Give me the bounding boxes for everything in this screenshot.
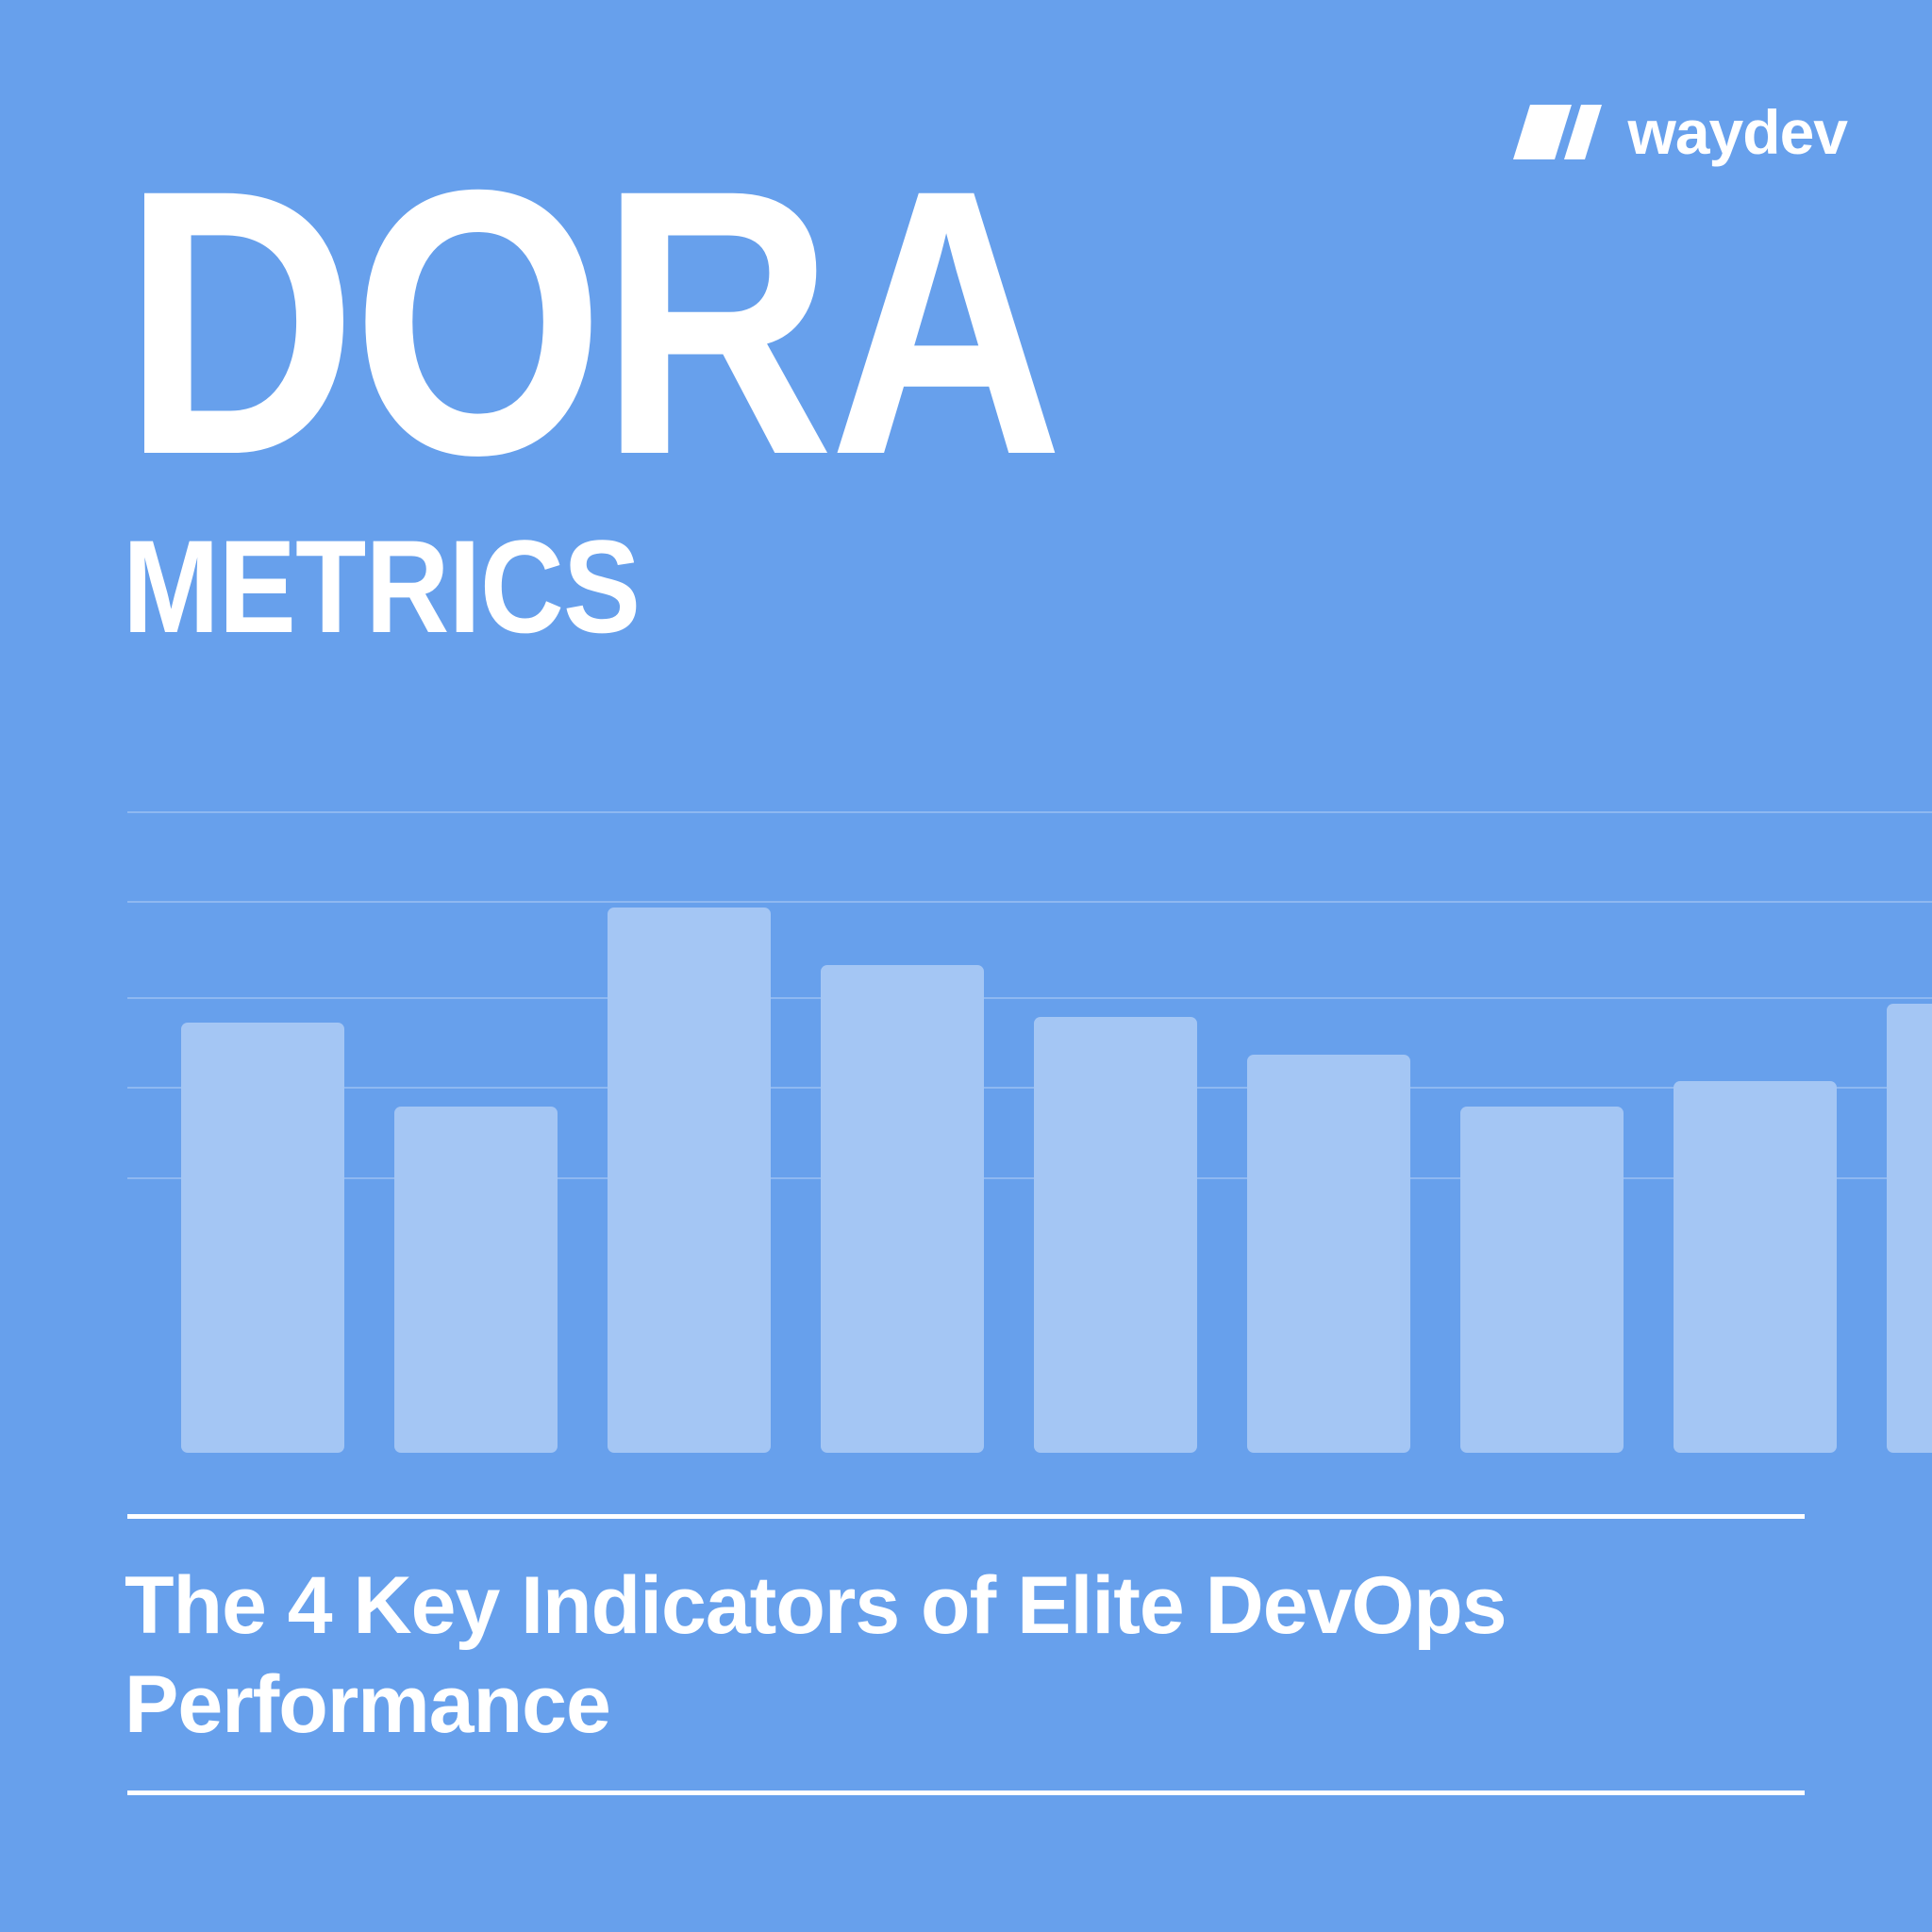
waydev-logo[interactable]: waydev xyxy=(1509,101,1847,163)
bar xyxy=(181,1023,344,1453)
waydev-logo-mark xyxy=(1509,103,1604,161)
headline-block: DORA METRICS xyxy=(123,175,1211,653)
chart-bars xyxy=(181,811,1932,1453)
bar xyxy=(1034,1017,1197,1453)
bar-chart xyxy=(127,811,1932,1453)
bar xyxy=(821,965,984,1453)
bar xyxy=(608,908,771,1453)
poster-canvas: waydev DORA METRICS The 4 Key Indicators… xyxy=(0,0,1932,1932)
waydev-wordmark: waydev xyxy=(1628,101,1847,163)
bar xyxy=(1247,1055,1410,1453)
page-subtitle-word: METRICS xyxy=(123,521,1080,653)
bar xyxy=(1887,1004,1932,1453)
divider-top xyxy=(127,1514,1805,1519)
bar xyxy=(1674,1081,1837,1453)
divider-bottom xyxy=(127,1790,1805,1795)
footer-subtitle: The 4 Key Indicators of Elite DevOps Per… xyxy=(125,1557,1672,1755)
page-title: DORA xyxy=(123,175,1058,470)
bar xyxy=(394,1107,558,1453)
bar xyxy=(1460,1107,1624,1453)
